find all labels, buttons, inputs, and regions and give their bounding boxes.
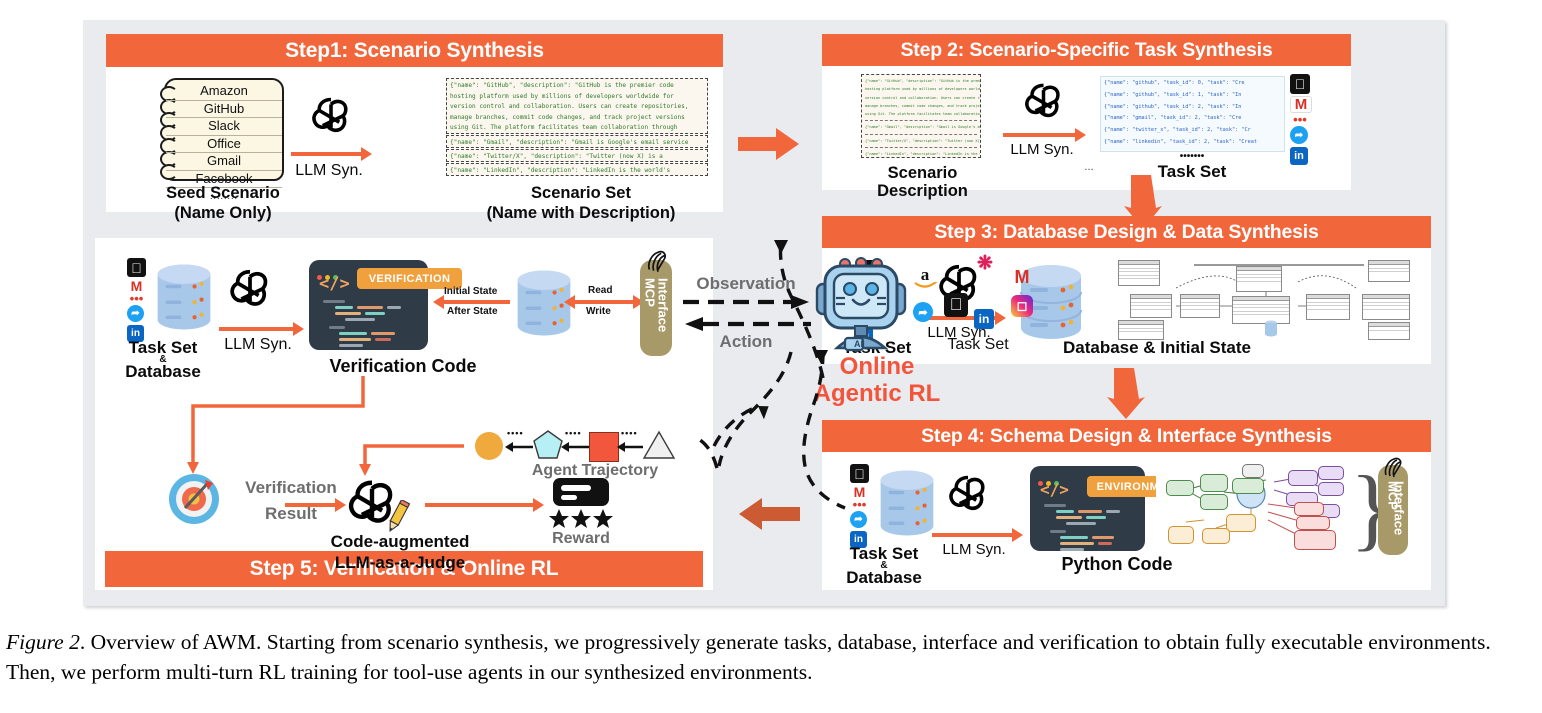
pencil-icon bbox=[385, 500, 411, 534]
slack-icon: ❋ bbox=[974, 252, 996, 274]
gmail-icon: M bbox=[127, 279, 146, 293]
mcp-interface-pill: MCP Interface bbox=[1378, 465, 1408, 555]
trajectory-dots: •••• bbox=[565, 428, 582, 438]
openai-logo-icon bbox=[309, 94, 353, 138]
json-line: hosting platform used by millions of dev… bbox=[450, 92, 704, 103]
mindmap-node bbox=[1200, 494, 1228, 510]
openai-logo-icon bbox=[946, 472, 990, 516]
json-line: version control and collaboration. Users… bbox=[865, 94, 977, 102]
scenario-json-block-gmail: {"name": "Gmail", "description": "Gmail … bbox=[446, 135, 708, 148]
task-line: {"name": "linkedin", "task_id": 2, "task… bbox=[1104, 137, 1281, 149]
figure-caption: Figure 2. Overview of AWM. Starting from… bbox=[6, 628, 1536, 687]
task-line: {"name": "twitter_x", "task_id": 2, "tas… bbox=[1104, 125, 1281, 137]
verification-result-line1: Verification bbox=[221, 478, 361, 498]
database-icon bbox=[878, 468, 936, 538]
schema-table bbox=[1368, 322, 1410, 340]
mindmap-node bbox=[1232, 478, 1264, 494]
json-line: {"name": "Gmail", "description": "Gmail … bbox=[450, 138, 704, 148]
step5-icon-column:  M ••• ➦ in bbox=[127, 258, 149, 334]
step3-panel: Step 3: Database Design & Data Synthesis… bbox=[822, 216, 1431, 364]
json-line: using Git. The platform facilitates team… bbox=[865, 110, 977, 118]
after-state-label: After State bbox=[447, 306, 498, 317]
step4-header: Step 4: Schema Design & Interface Synthe… bbox=[822, 420, 1431, 452]
code-tag-icon: </> bbox=[319, 274, 350, 294]
mindmap-node bbox=[1296, 516, 1330, 530]
schema-table bbox=[1180, 294, 1220, 318]
step4-taskset-label: Task Set & Database bbox=[824, 544, 944, 587]
scenario-description-label: Scenario Description bbox=[840, 164, 1005, 201]
scenario-json-block-linkedin: {"name": "LinkedIn", "description": "Lin… bbox=[446, 163, 708, 176]
json-line: {"name": "LinkedIn", "description": "Lin… bbox=[865, 147, 977, 158]
openai-logo-icon bbox=[227, 266, 273, 312]
step1-llm-arrow bbox=[291, 152, 363, 156]
step4-code-label: Python Code bbox=[1027, 554, 1207, 574]
json-line: {"name": "GitHub", "description": "GitHu… bbox=[865, 77, 977, 85]
json-line: {"name": "LinkedIn", "description": "Lin… bbox=[450, 166, 704, 176]
json-line: manage branches, commit code changes, an… bbox=[450, 113, 704, 124]
traj-to-loop-arrow bbox=[710, 390, 770, 450]
task-set-block: {"name": "github", "task_id": 0, "task":… bbox=[1100, 76, 1285, 152]
caption-text: . Overview of AWM. Starting from scenari… bbox=[6, 630, 1491, 684]
mcp-label-line2: Interface bbox=[1392, 481, 1407, 535]
caption-prefix: Figure 2 bbox=[6, 630, 80, 654]
read-write-arrow-right bbox=[573, 300, 635, 304]
task-line: {"name": "github", "task_id": 1, "task":… bbox=[1104, 90, 1281, 102]
linkedin-icon: in bbox=[974, 309, 994, 329]
schema-table bbox=[1232, 296, 1290, 324]
result-to-judge-arrow bbox=[285, 503, 337, 507]
step2-small-ellipsis: ... bbox=[1074, 161, 1104, 173]
step1-panel: Step1: Scenario Synthesis Amazon GitHub … bbox=[106, 34, 723, 212]
seed-scenario-note: Amazon GitHub Slack Office Gmail Faceboo… bbox=[164, 78, 284, 181]
schema-db-icon bbox=[1264, 320, 1278, 338]
json-line: {"name": "GitHub", "description": "GitHu… bbox=[450, 81, 704, 92]
write-label: Write bbox=[586, 306, 611, 317]
mindmap-node bbox=[1318, 482, 1344, 496]
json-line: using Git. The platform facilitates team… bbox=[450, 123, 704, 134]
rl-loop-return-arrow bbox=[651, 200, 831, 400]
json-line: {"name": "Twitter/X", "description": "Tw… bbox=[865, 134, 977, 145]
seed-item: Amazon bbox=[166, 83, 282, 101]
amazon-smile-icon bbox=[914, 282, 938, 290]
schema-table bbox=[1118, 320, 1164, 340]
schema-table bbox=[1236, 266, 1282, 292]
target-icon bbox=[167, 472, 221, 526]
initial-state-label: Initial State bbox=[444, 286, 497, 297]
step5-code-label: Verification Code bbox=[303, 356, 503, 376]
center-taskset-label: Task Set bbox=[923, 336, 1033, 354]
gmail-icon: M bbox=[1011, 268, 1033, 286]
mindmap-node bbox=[1288, 470, 1318, 486]
step2-llm-label: LLM Syn. bbox=[997, 142, 1087, 159]
json-line: {"name": "Gmail", "description": "Gmail … bbox=[865, 120, 977, 131]
seed-scenario-label-line1: Seed Scenario bbox=[128, 184, 318, 202]
step2-llm-arrow bbox=[1003, 133, 1077, 137]
schema-table bbox=[1368, 260, 1410, 282]
step2-header: Step 2: Scenario-Specific Task Synthesis bbox=[822, 34, 1351, 66]
scenario-json-block-twitter: {"name": "Twitter/X", "description": "Tw… bbox=[446, 149, 708, 162]
json-line: manage branches, commit code changes, an… bbox=[865, 102, 977, 110]
seed-item: Office bbox=[166, 136, 282, 154]
twitter-icon: ➦ bbox=[913, 302, 933, 322]
figure-canvas: Step1: Scenario Synthesis Amazon GitHub … bbox=[83, 20, 1445, 606]
github-icon:  bbox=[1290, 74, 1310, 94]
task-line: {"name": "gmail", "task_id": 2, "task": … bbox=[1104, 113, 1281, 125]
seed-item: Gmail bbox=[166, 153, 282, 171]
robot-ai-badge: AI bbox=[854, 339, 863, 349]
step4-llm-label: LLM Syn. bbox=[930, 542, 1018, 559]
step1-llm-label: LLM Syn. bbox=[284, 162, 374, 180]
code-tag-icon: </> bbox=[1040, 480, 1069, 499]
mcp-label2: Interface bbox=[1392, 481, 1407, 535]
judge-label-line2: LLM-as-a-Judge bbox=[300, 553, 500, 572]
seed-item: Slack bbox=[166, 118, 282, 136]
step4-panel: Step 4: Schema Design & Interface Synthe… bbox=[822, 420, 1431, 590]
step4-llm-arrow bbox=[932, 533, 1014, 537]
scenario-json-block-main: {"name": "GitHub", "description": "GitHu… bbox=[446, 78, 708, 134]
scenario-description-block: {"name": "GitHub", "description": "GitHu… bbox=[861, 74, 981, 158]
seed-scenario-label-line2: (Name Only) bbox=[128, 204, 318, 222]
seed-item: GitHub bbox=[166, 101, 282, 119]
step5-taskset-label: Task Set & Database bbox=[103, 338, 223, 381]
mindmap-node bbox=[1200, 474, 1228, 492]
initial-state-arrow bbox=[442, 300, 510, 304]
twitter-icon: ➦ bbox=[127, 305, 144, 322]
schema-table bbox=[1118, 260, 1160, 286]
json-line: {"name": "Twitter/X", "description": "Tw… bbox=[450, 152, 704, 162]
step1-to-step2-arrow bbox=[738, 127, 800, 161]
task-line: {"name": "github", "task_id": 2, "task":… bbox=[1104, 102, 1281, 114]
trajectory-arrows bbox=[465, 438, 675, 458]
step4-title: Step 4: Schema Design & Interface Synthe… bbox=[921, 425, 1332, 448]
reward-label: Reward bbox=[535, 530, 627, 548]
step3-to-step4-arrow bbox=[1106, 368, 1146, 420]
step3-title: Step 3: Database Design & Data Synthesis bbox=[934, 221, 1318, 244]
openai-logo-icon bbox=[1022, 80, 1065, 123]
judge-label: Code-augmented LLM-as-a-Judge bbox=[300, 532, 500, 572]
step3-header: Step 3: Database Design & Data Synthesis bbox=[822, 216, 1431, 248]
step4-taskset-line2: Database bbox=[824, 568, 944, 587]
twitter-icon: ➦ bbox=[1290, 126, 1308, 144]
step5-llm-label: LLM Syn. bbox=[213, 336, 303, 354]
step2-panel: Step 2: Scenario-Specific Task Synthesis… bbox=[822, 34, 1351, 190]
mindmap-node bbox=[1294, 502, 1324, 516]
step2-icon-column:  M ••• ➦ in bbox=[1290, 74, 1314, 156]
trajectory-dots: •••• bbox=[507, 428, 524, 438]
er-schema-diagram bbox=[1116, 258, 1416, 340]
judge-label-line1: Code-augmented bbox=[300, 532, 500, 551]
ellipsis-icon: ••• bbox=[1290, 115, 1310, 124]
gmail-icon: M bbox=[1290, 96, 1312, 113]
json-line: version control and collaboration. Users… bbox=[450, 102, 704, 113]
trajectory-dots: •••• bbox=[621, 428, 638, 438]
step5-llm-arrow bbox=[219, 327, 295, 331]
github-icon:  bbox=[944, 293, 968, 317]
schema-table bbox=[1362, 294, 1410, 320]
reward-icon bbox=[547, 478, 615, 530]
mindmap-node bbox=[1168, 526, 1194, 544]
interface-mindmap bbox=[1156, 464, 1346, 552]
step5-panel: Step 5: Verification & Online RL  M •••… bbox=[95, 238, 713, 590]
task-line: {"name": "github", "task_id": 0, "task":… bbox=[1104, 78, 1281, 90]
mindmap-node bbox=[1226, 514, 1256, 532]
github-icon:  bbox=[127, 258, 146, 277]
step5-taskset-line2: Database bbox=[103, 362, 223, 381]
plug-icon bbox=[1382, 455, 1406, 481]
instagram-icon: ◻ bbox=[1011, 295, 1033, 317]
read-label: Read bbox=[588, 285, 612, 296]
step1-title: Step1: Scenario Synthesis bbox=[285, 39, 544, 63]
mindmap-node bbox=[1294, 530, 1336, 550]
mindmap-node bbox=[1202, 528, 1230, 544]
seed-scenario-label: Seed Scenario (Name Only) bbox=[128, 184, 318, 223]
schema-table bbox=[1130, 294, 1172, 318]
mindmap-node bbox=[1318, 466, 1344, 480]
step2-taskset-ellipsis: ••••••• bbox=[1132, 151, 1252, 162]
ellipsis-icon: ••• bbox=[127, 294, 146, 303]
mindmap-node bbox=[1242, 464, 1264, 478]
judge-to-reward-arrow bbox=[425, 503, 535, 507]
linkedin-icon: in bbox=[1290, 147, 1308, 165]
mindmap-node bbox=[1166, 480, 1194, 496]
json-line: hosting platform used by millions of dev… bbox=[865, 85, 977, 93]
schema-table bbox=[1306, 294, 1350, 320]
step3-db-label: Database & Initial State bbox=[1007, 338, 1307, 357]
verification-badge-label: VERIFICATION bbox=[369, 273, 451, 285]
step2-title: Step 2: Scenario-Specific Task Synthesis bbox=[900, 39, 1272, 62]
step1-header: Step1: Scenario Synthesis bbox=[106, 34, 723, 67]
database-icon bbox=[155, 262, 213, 332]
